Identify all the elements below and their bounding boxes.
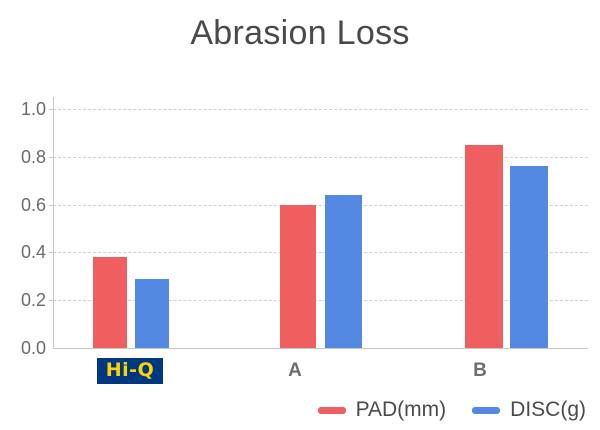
legend-swatch-disc: [472, 407, 500, 414]
bar-pad-a: [280, 205, 316, 348]
y-axis-ticks: 1.0 0.8 0.6 0.4 0.2 0.0: [0, 0, 46, 430]
x-axis-line: [53, 348, 588, 349]
chart-title: Abrasion Loss: [0, 14, 600, 53]
gridline-1.0: [53, 109, 588, 110]
y-axis-line: [53, 97, 54, 349]
bar-disc-a: [325, 195, 362, 348]
chart-container: Abrasion Loss 1.0 0.8 0.6 0.4 0.2 0.0 Hi…: [0, 0, 600, 430]
x-axis-label-hi-q: Hi-Q: [80, 358, 180, 384]
legend-label-disc: DISC(g): [510, 398, 586, 422]
y-tick-label-0.8: 0.8: [2, 147, 46, 168]
x-axis-label-a: A: [270, 360, 320, 382]
plot-area: [53, 97, 588, 348]
y-tickmark-1.0: [49, 109, 53, 110]
y-tickmark-0.4: [49, 252, 53, 253]
bar-pad-b: [465, 145, 503, 348]
y-tick-label-0.2: 0.2: [2, 290, 46, 311]
bar-disc-hi-q: [135, 279, 169, 348]
legend-item-pad[interactable]: PAD(mm): [318, 398, 447, 422]
x-axis-label-b: B: [455, 360, 505, 382]
y-tick-label-1.0: 1.0: [2, 99, 46, 120]
bar-disc-b: [510, 166, 548, 348]
y-tickmark-0.6: [49, 205, 53, 206]
y-tick-label-0.4: 0.4: [2, 242, 46, 263]
legend-label-pad: PAD(mm): [356, 398, 447, 422]
gridline-0.4: [53, 252, 588, 253]
legend-item-disc[interactable]: DISC(g): [472, 398, 586, 422]
y-tick-label-0.6: 0.6: [2, 195, 46, 216]
chart-legend: PAD(mm) DISC(g): [0, 398, 600, 422]
y-tick-label-0.0: 0.0: [2, 338, 46, 359]
bar-pad-hi-q: [93, 257, 127, 348]
gridline-0.8: [53, 157, 588, 158]
gridline-0.2: [53, 300, 588, 301]
hi-q-logo: Hi-Q: [97, 358, 163, 384]
legend-swatch-pad: [318, 407, 346, 414]
gridline-0.6: [53, 205, 588, 206]
y-tickmark-0.2: [49, 300, 53, 301]
y-tickmark-0.8: [49, 157, 53, 158]
